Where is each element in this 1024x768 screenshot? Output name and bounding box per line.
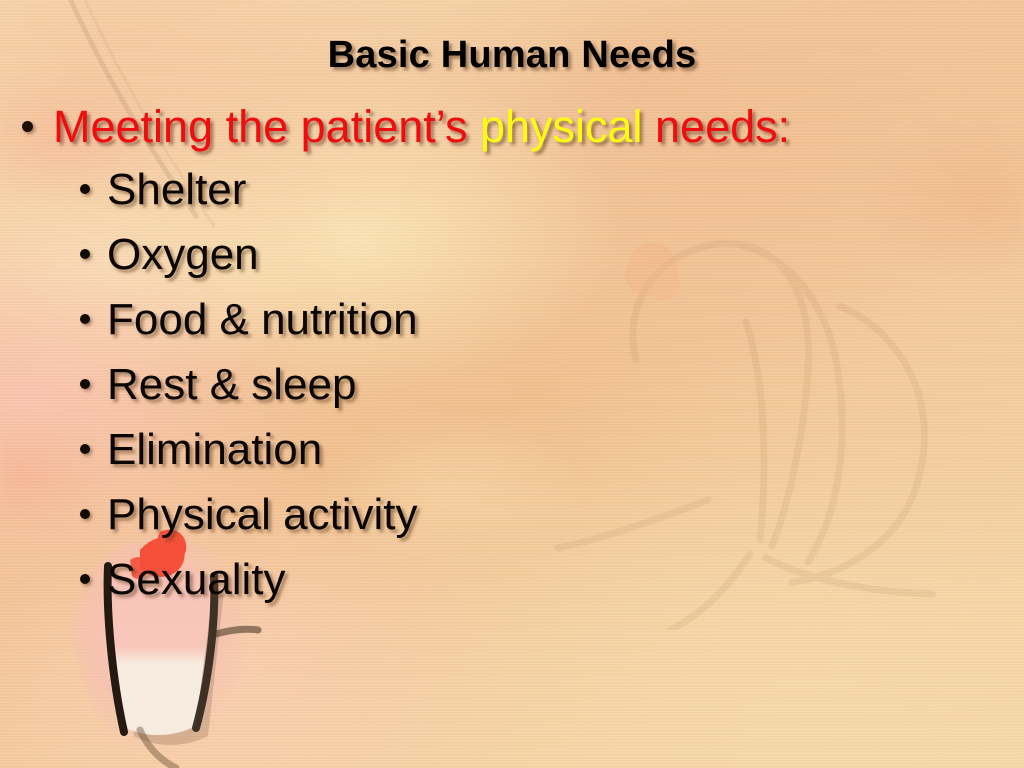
list-item-label: Oxygen xyxy=(107,233,259,277)
bullet-dot-icon xyxy=(80,184,90,194)
bullet-dot-icon xyxy=(80,314,90,324)
list-item: Rest & sleep xyxy=(80,363,600,428)
list-item-label: Shelter xyxy=(107,168,246,212)
main-bullet-segment-2-highlight: physical xyxy=(480,101,643,152)
slide-title: Basic Human Needs xyxy=(0,34,1024,77)
list-item-label: Food & nutrition xyxy=(107,298,418,342)
main-bullet-segment-3: needs: xyxy=(643,101,791,152)
list-item: Physical activity xyxy=(80,493,600,558)
list-item-label: Elimination xyxy=(107,428,322,472)
ghost-flower-outline-decoration xyxy=(540,210,980,630)
list-item: Food & nutrition xyxy=(80,298,600,363)
bullet-dot-icon xyxy=(80,379,90,389)
main-bullet-item: Meeting the patient’s physical needs: xyxy=(22,104,790,149)
list-item-label: Rest & sleep xyxy=(107,363,356,407)
list-item: Oxygen xyxy=(80,233,600,298)
list-item: Elimination xyxy=(80,428,600,493)
list-item-label: Sexuality xyxy=(107,558,286,602)
main-bullet-text: Meeting the patient’s physical needs: xyxy=(53,104,790,149)
list-item-label: Physical activity xyxy=(107,493,418,537)
bullet-dot-icon xyxy=(80,249,90,259)
sub-bullet-list: Shelter Oxygen Food & nutrition Rest & s… xyxy=(80,168,600,623)
slide-canvas: Basic Human Needs Meeting the patient’s … xyxy=(0,0,1024,768)
list-item: Sexuality xyxy=(80,558,600,623)
bullet-dot-icon xyxy=(80,574,90,584)
main-bullet-segment-1: Meeting the patient’s xyxy=(53,101,480,152)
list-item: Shelter xyxy=(80,168,600,233)
bullet-dot-icon xyxy=(80,509,90,519)
bullet-dot-icon xyxy=(80,444,90,454)
bullet-dot-icon xyxy=(22,121,33,132)
